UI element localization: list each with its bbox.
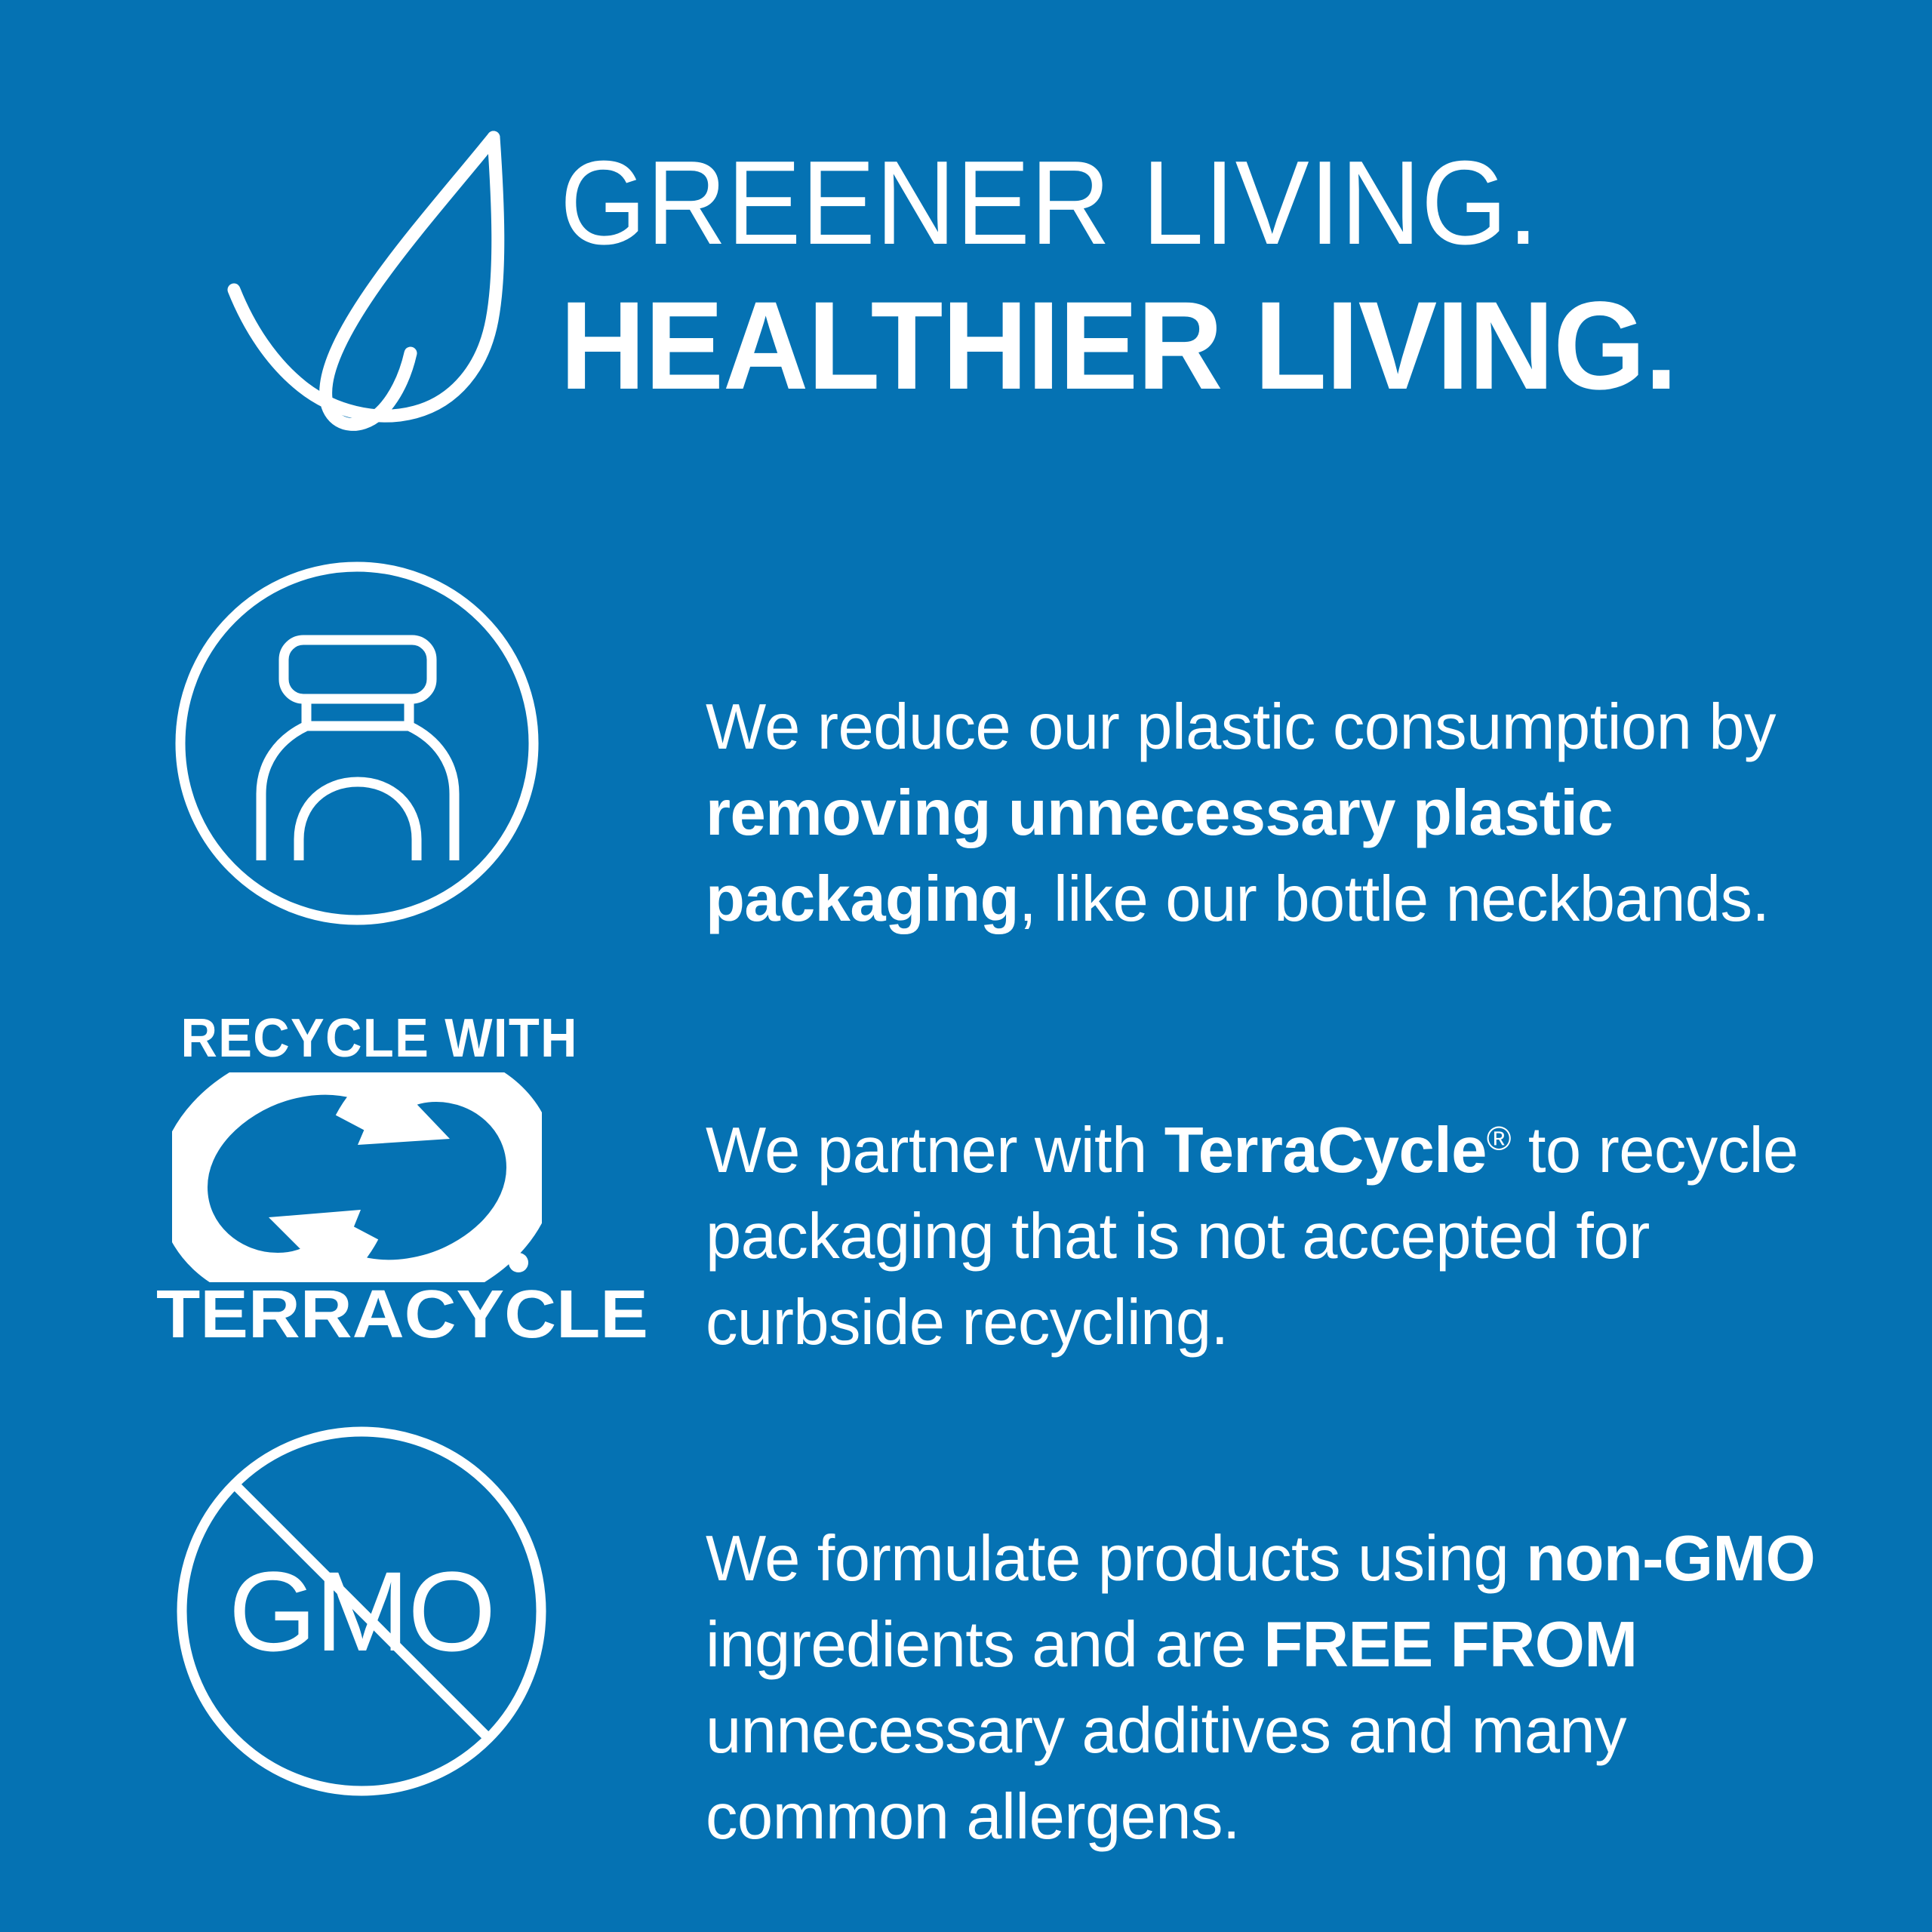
terracycle-bottom-label: TERRACYCLE <box>156 1276 556 1354</box>
text-segment: We formulate products using <box>706 1523 1526 1595</box>
text-segment-bold: TerraCycle <box>1164 1115 1487 1186</box>
terracycle-logo-group: RECYCLE WITH TERRACY <box>168 1008 545 1370</box>
text-segment: ingredients and are <box>706 1609 1263 1681</box>
feature-row-gmo: GMO We formulate products using non-GMO … <box>0 1419 1932 1804</box>
text-segment: We partner with <box>706 1115 1164 1186</box>
greener-living-infographic: GREENER LIVING. HEALTHIER LIVING. <box>0 0 1932 1932</box>
feature-text-plastic: We reduce our plastic consumption by rem… <box>706 685 1872 943</box>
header: GREENER LIVING. HEALTHIER LIVING. <box>0 0 1932 468</box>
headline-line-1: GREENER LIVING. <box>560 143 1753 263</box>
leaf-icon <box>205 130 537 432</box>
text-segment: We reduce our plastic consumption by <box>706 691 1776 763</box>
feature-row-plastic: We reduce our plastic consumption by rem… <box>0 551 1932 936</box>
headline: GREENER LIVING. HEALTHIER LIVING. <box>560 143 1843 409</box>
registered-mark: ® <box>1487 1121 1511 1158</box>
text-segment-bold: non-GMO <box>1526 1523 1815 1595</box>
infinity-recycle-arrows-icon <box>172 1072 542 1282</box>
feature-text-terracycle: We partner with TerraCycle® to recycle p… <box>706 1108 1872 1366</box>
text-segment: unnecessary additives and many common al… <box>706 1695 1626 1853</box>
feature-text-gmo: We formulate products using non-GMO ingr… <box>706 1516 1872 1860</box>
feature-row-terracycle: RECYCLE WITH TERRACY <box>0 1008 1932 1385</box>
no-gmo-icon-svg <box>175 1425 548 1798</box>
text-segment: , like our bottle neckbands. <box>1019 863 1769 935</box>
terracycle-top-label: RECYCLE WITH <box>181 1008 532 1069</box>
bottle-icon-svg <box>172 558 542 928</box>
headline-line-2: HEALTHIER LIVING. <box>560 284 1773 409</box>
text-segment-bold: FREE FROM <box>1263 1609 1637 1681</box>
